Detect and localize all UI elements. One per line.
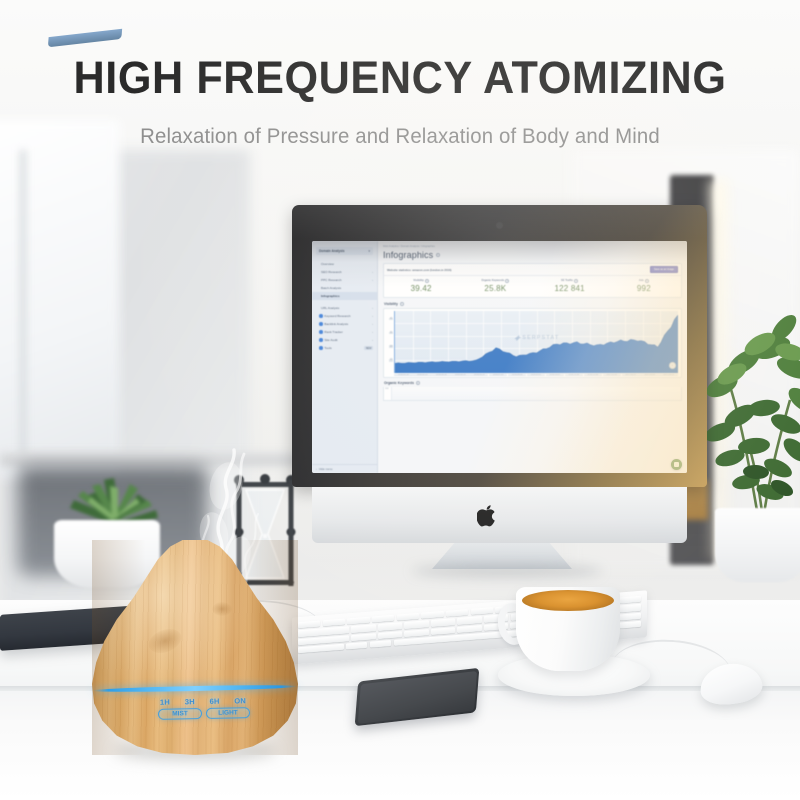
keyboard-key[interactable] bbox=[404, 621, 428, 629]
sidebar-item-overview[interactable]: Overview bbox=[312, 260, 377, 268]
organic-keywords-header: Organic Keywords i bbox=[384, 381, 682, 385]
sidebar-item-label: SEO Research bbox=[321, 270, 342, 274]
chevron-left-icon: ‹ bbox=[316, 467, 317, 471]
timer-label-3h: 3H bbox=[185, 697, 195, 706]
kpi-organic-keywords: Organic Keywords i 25.8K bbox=[458, 279, 532, 294]
chevron-right-icon: › bbox=[372, 307, 373, 310]
chevron-right-icon: › bbox=[372, 271, 373, 274]
keyboard-key[interactable] bbox=[370, 640, 392, 648]
x-axis-tick: 2016-11-08 bbox=[565, 374, 583, 377]
kpi-metrics-row: Visibility i 39.42 Organic Keywords i bbox=[384, 276, 681, 297]
keyboard-key[interactable] bbox=[446, 609, 468, 617]
sidebar-item-site-audit[interactable]: Site Audit › bbox=[312, 336, 377, 344]
background-window-frame bbox=[20, 150, 26, 470]
keyboard-key[interactable] bbox=[372, 615, 394, 623]
x-axis-tick: 2016-04-20 bbox=[451, 374, 469, 377]
x-axis-tick: 2016-01-10 bbox=[394, 374, 412, 377]
organic-keywords-chart: 15K bbox=[383, 387, 682, 401]
keyboard-key[interactable] bbox=[404, 629, 428, 637]
keyboard-key[interactable] bbox=[298, 644, 344, 654]
sidebar-item-label: PPC Research bbox=[321, 278, 341, 282]
aroma-diffuser[interactable]: 1H 3H 6H ON MIST LIGHT bbox=[92, 540, 298, 755]
sidebar-item-tools[interactable]: Tools NEW bbox=[312, 344, 377, 352]
x-axis-tick: 2016-12-06 bbox=[584, 374, 602, 377]
keyboard-key[interactable] bbox=[298, 620, 320, 628]
kpi-label-text: SE Traffic bbox=[561, 279, 573, 282]
timer-label-6h: 6H bbox=[209, 697, 219, 706]
kpi-visibility: Visibility i 39.42 bbox=[384, 279, 458, 294]
chat-widget-button[interactable] bbox=[671, 459, 682, 470]
sidebar-footer-label: Hide menu bbox=[319, 467, 333, 471]
y-axis-tick: 20 bbox=[389, 345, 393, 348]
keyboard-key[interactable] bbox=[347, 617, 369, 625]
save-as-image-button[interactable]: Save as an image bbox=[650, 266, 678, 273]
new-badge: NEW bbox=[364, 346, 373, 350]
sidebar-item-infographics[interactable]: Infographics bbox=[312, 292, 377, 300]
kpi-label-text: Visibility bbox=[413, 279, 424, 282]
info-icon[interactable]: i bbox=[645, 279, 649, 283]
info-icon[interactable]: i bbox=[416, 381, 420, 385]
imac-monitor: Domain Analysis ▾ Overview SEO Research … bbox=[292, 205, 707, 590]
timer-label-1h: 1H bbox=[160, 698, 170, 707]
info-icon[interactable]: i bbox=[425, 279, 429, 283]
keyboard-key[interactable] bbox=[421, 611, 443, 619]
kpi-value: 25.8K bbox=[458, 284, 532, 293]
sidebar-item-label: Tools bbox=[324, 346, 331, 350]
dashboard-title: Infographics bbox=[383, 250, 433, 260]
info-icon[interactable]: i bbox=[436, 253, 440, 257]
visibility-chart-card: 40302010 SERPSTAT bbox=[383, 308, 682, 379]
kpi-value: 992 bbox=[607, 284, 681, 293]
x-axis-tick: 2017-01-05 bbox=[603, 374, 621, 377]
page-header: Infographics i bbox=[383, 250, 682, 260]
page-title: HIGH FREQUENCY ATOMIZING bbox=[16, 54, 784, 102]
chat-bubble-icon bbox=[674, 462, 680, 467]
coffee-cup bbox=[516, 587, 620, 671]
keyboard-key[interactable] bbox=[431, 618, 455, 626]
sidebar-header[interactable]: Domain Analysis ▾ bbox=[316, 247, 373, 255]
sidebar-item-label: Batch Analysis bbox=[321, 286, 341, 290]
keyboard-key[interactable] bbox=[378, 631, 402, 639]
organic-keywords-section: Organic Keywords i 15K bbox=[383, 381, 682, 401]
info-icon[interactable]: i bbox=[505, 279, 509, 283]
keyboard-key[interactable] bbox=[323, 619, 345, 627]
kpi-value: 122 841 bbox=[533, 284, 607, 293]
mist-button[interactable]: MIST bbox=[158, 708, 202, 720]
kpi-label: SE Traffic i bbox=[533, 279, 607, 283]
y-axis: 40302010 bbox=[386, 311, 394, 373]
plant-pot bbox=[715, 508, 800, 582]
area-chart: SERPSTAT bbox=[394, 311, 678, 373]
chevron-right-icon: › bbox=[372, 279, 373, 282]
sidebar-item-rank-tracker[interactable]: Rank Tracker › bbox=[312, 328, 377, 336]
y-axis-tick: 10 bbox=[389, 359, 393, 362]
timer-label-on: ON bbox=[234, 696, 246, 705]
chevron-right-icon: › bbox=[372, 339, 373, 342]
kpi-label: Ads i bbox=[607, 279, 681, 283]
sidebar-item-label: Keyword Research bbox=[324, 314, 350, 318]
keyboard-key[interactable] bbox=[346, 642, 368, 650]
banner-subtitle: Relaxation of Pressure and Relaxation of… bbox=[12, 125, 788, 149]
chevron-right-icon: › bbox=[372, 331, 373, 334]
x-axis-tick: 2016-05-23 bbox=[470, 374, 488, 377]
kpi-value: 39.42 bbox=[384, 284, 458, 293]
chart-plot-area: 40302010 SERPSTAT bbox=[386, 311, 678, 373]
monitor-stand-shadow bbox=[412, 565, 602, 577]
x-axis-tick: 2017-04-14 bbox=[659, 374, 677, 377]
link-icon bbox=[319, 322, 323, 326]
keyboard-key[interactable] bbox=[471, 607, 493, 615]
screen-content: Domain Analysis ▾ Overview SEO Research … bbox=[312, 241, 687, 473]
sidebar-item-label: Backlink Analysis bbox=[324, 322, 348, 326]
x-axis-tick: 2017-03-06 bbox=[640, 374, 658, 377]
sidebar-item-label: Overview bbox=[321, 262, 334, 266]
gear-icon bbox=[319, 346, 323, 350]
section-title: Organic Keywords bbox=[384, 381, 414, 385]
sidebar-item-label: URL Analysis bbox=[321, 306, 339, 310]
kpi-card: Website statistics: amazon.com (london.i… bbox=[383, 263, 682, 298]
bezel-sheen bbox=[292, 205, 707, 239]
dashboard-sidebar: Domain Analysis ▾ Overview SEO Research … bbox=[312, 241, 378, 473]
sidebar-header-label: Domain Analysis bbox=[319, 249, 345, 253]
y-axis-tick: 40 bbox=[389, 318, 393, 321]
section-title: Visibility bbox=[384, 302, 398, 306]
kpi-se-traffic: SE Traffic i 122 841 bbox=[533, 279, 607, 294]
sidebar-item-ppc-research[interactable]: PPC Research › bbox=[312, 276, 377, 284]
kpi-label-text: Organic Keywords bbox=[481, 279, 504, 282]
dashboard-main: Web Analytics / Domain Analysis / Infogr… bbox=[378, 241, 687, 473]
monitor-screen: Domain Analysis ▾ Overview SEO Research … bbox=[312, 241, 687, 473]
kpi-label: Visibility i bbox=[384, 279, 458, 283]
sidebar-item-seo-research[interactable]: SEO Research › bbox=[312, 268, 377, 276]
keyboard-key[interactable] bbox=[431, 627, 455, 635]
x-axis-tick: 2016-03-24 bbox=[432, 374, 450, 377]
kpi-card-title: Website statistics: amazon.com (london.i… bbox=[387, 268, 451, 272]
info-icon[interactable]: i bbox=[574, 279, 578, 283]
organic-keywords-y-axis: 15K bbox=[384, 387, 392, 400]
chevron-right-icon: › bbox=[372, 323, 373, 326]
x-axis: 2016-01-102016-02-222016-03-242016-04-20… bbox=[386, 374, 678, 377]
breadcrumb: Web Analytics / Domain Analysis / Infogr… bbox=[383, 245, 682, 248]
keyboard-key[interactable] bbox=[351, 625, 375, 633]
chevron-right-icon: › bbox=[372, 315, 373, 318]
keyboard-key[interactable] bbox=[397, 613, 419, 621]
x-axis-tick: 2016-02-22 bbox=[413, 374, 431, 377]
kpi-label: Organic Keywords i bbox=[458, 279, 532, 283]
diffuser-shading bbox=[92, 540, 298, 755]
timer-labels: 1H 3H 6H ON bbox=[160, 696, 246, 706]
key-icon bbox=[319, 314, 323, 318]
visibility-section-header: Visibility i bbox=[384, 302, 682, 306]
shield-icon bbox=[319, 338, 323, 342]
x-axis-tick: 2016-07-05 bbox=[489, 374, 507, 377]
kpi-label-text: Ads bbox=[639, 279, 644, 282]
background-window bbox=[0, 120, 120, 480]
keyboard-key[interactable] bbox=[617, 604, 641, 612]
keyboard-key[interactable] bbox=[457, 616, 481, 624]
sidebar-item-url-analysis[interactable]: URL Analysis › bbox=[312, 304, 377, 312]
chart-zoom-control[interactable]: ⌕ bbox=[669, 362, 676, 369]
sidebar-item-keyword-research[interactable]: Keyword Research › bbox=[312, 312, 377, 320]
sidebar-hide-menu-button[interactable]: ‹ Hide menu bbox=[312, 464, 377, 473]
kpi-ads: Ads i 992 bbox=[607, 279, 681, 294]
keyboard-key[interactable] bbox=[378, 623, 402, 631]
keyboard-key[interactable] bbox=[351, 633, 375, 641]
info-icon[interactable]: i bbox=[400, 302, 404, 306]
chevron-down-icon: ▾ bbox=[368, 249, 370, 253]
product-banner-scene: HIGH FREQUENCY ATOMIZING Relaxation of P… bbox=[0, 0, 800, 800]
x-axis-tick: 2017-02-07 bbox=[622, 374, 640, 377]
x-axis-tick: 2016-10-07 bbox=[546, 374, 564, 377]
control-buttons: MIST LIGHT bbox=[158, 707, 250, 720]
webcam-icon bbox=[497, 223, 502, 228]
sidebar-item-label: Site Audit bbox=[324, 338, 337, 342]
sidebar-item-backlink-analysis[interactable]: Backlink Analysis › bbox=[312, 320, 377, 328]
y-axis-tick: 30 bbox=[389, 332, 393, 335]
sidebar-item-label: Infographics bbox=[321, 294, 340, 298]
x-axis-tick: 2016-09-07 bbox=[527, 374, 545, 377]
coffee-liquid bbox=[522, 590, 614, 611]
light-button[interactable]: LIGHT bbox=[206, 707, 250, 719]
chart-icon bbox=[319, 330, 323, 334]
monitor-chin bbox=[312, 487, 687, 543]
banner-text-block: HIGH FREQUENCY ATOMIZING Relaxation of P… bbox=[0, 54, 800, 149]
x-axis-tick: 2016-08-06 bbox=[508, 374, 526, 377]
kpi-card-header: Website statistics: amazon.com (london.i… bbox=[384, 264, 681, 276]
organic-keywords-grid bbox=[392, 387, 681, 400]
apple-logo-icon bbox=[477, 505, 497, 528]
sidebar-item-batch-analysis[interactable]: Batch Analysis bbox=[312, 284, 377, 292]
chart-series-svg bbox=[395, 311, 678, 373]
sidebar-item-label: Rank Tracker bbox=[324, 330, 342, 334]
keyboard-key[interactable] bbox=[457, 625, 481, 633]
serpstat-dashboard: Domain Analysis ▾ Overview SEO Research … bbox=[312, 241, 687, 473]
